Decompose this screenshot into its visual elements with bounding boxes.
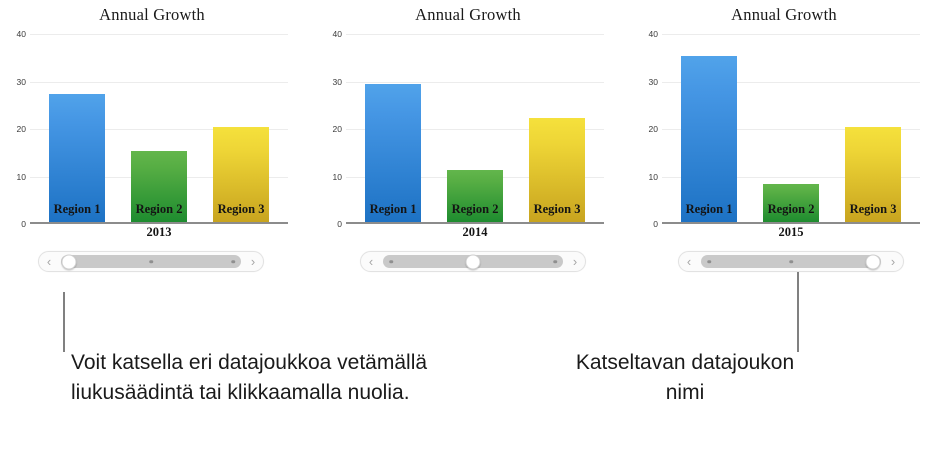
slider-track[interactable] bbox=[701, 255, 881, 268]
chart-title: Annual Growth bbox=[2, 0, 302, 25]
x-axis-tick-label: Region 2 bbox=[443, 202, 507, 217]
y-axis-tick-label: 20 bbox=[649, 124, 658, 134]
x-axis-tick-label: Region 3 bbox=[209, 202, 273, 217]
y-axis-tick-label: 10 bbox=[649, 172, 658, 182]
x-axis-baseline bbox=[30, 222, 288, 224]
chevron-right-icon[interactable]: › bbox=[883, 255, 903, 268]
plot-area: 010203040 bbox=[634, 34, 931, 224]
x-axis-tick-label: Region 3 bbox=[841, 202, 905, 217]
y-axis-tick-label: 10 bbox=[17, 172, 26, 182]
slider-tick-dot[interactable] bbox=[389, 260, 393, 264]
y-axis: 010203040 bbox=[634, 34, 662, 224]
x-axis-baseline bbox=[662, 222, 920, 224]
grid-area bbox=[346, 34, 604, 224]
dataset-slider[interactable]: ‹› bbox=[360, 251, 586, 272]
chevron-left-icon[interactable]: ‹ bbox=[679, 255, 699, 268]
dataset-name-label: 2014 bbox=[346, 225, 604, 240]
x-axis-tick-label: Region 1 bbox=[677, 202, 741, 217]
chevron-right-icon[interactable]: › bbox=[565, 255, 585, 268]
chevron-right-icon[interactable]: › bbox=[243, 255, 263, 268]
slider-track[interactable] bbox=[61, 255, 241, 268]
y-axis-tick-label: 0 bbox=[653, 219, 658, 229]
chevron-left-icon[interactable]: ‹ bbox=[39, 255, 59, 268]
chevron-left-icon[interactable]: ‹ bbox=[361, 255, 381, 268]
slider-track[interactable] bbox=[383, 255, 563, 268]
y-axis-tick-label: 30 bbox=[649, 77, 658, 87]
dataset-name-label: 2013 bbox=[30, 225, 288, 240]
callout-text-left: Voit katsella eri datajoukkoa vetämällä … bbox=[71, 348, 471, 408]
bar-group bbox=[668, 34, 914, 222]
callout-leader-line-right bbox=[797, 272, 799, 352]
y-axis-tick-label: 40 bbox=[17, 29, 26, 39]
x-axis-labels: Region 1Region 2Region 3 bbox=[668, 202, 914, 217]
slider-thumb[interactable] bbox=[866, 254, 881, 269]
slider-tick-dot[interactable] bbox=[789, 260, 793, 264]
chart-panel: Annual Growth010203040Region 1Region 2Re… bbox=[2, 0, 302, 310]
x-axis-baseline bbox=[346, 222, 604, 224]
y-axis-tick-label: 0 bbox=[337, 219, 342, 229]
slider-tick-dot[interactable] bbox=[231, 260, 235, 264]
plot-area: 010203040 bbox=[318, 34, 618, 224]
dataset-slider[interactable]: ‹› bbox=[678, 251, 904, 272]
chart-title: Annual Growth bbox=[634, 0, 931, 25]
x-axis-tick-label: Region 2 bbox=[127, 202, 191, 217]
y-axis-tick-label: 0 bbox=[21, 219, 26, 229]
slider-thumb[interactable] bbox=[466, 254, 481, 269]
y-axis-tick-label: 20 bbox=[333, 124, 342, 134]
slider-tick-dot[interactable] bbox=[707, 260, 711, 264]
bar-group bbox=[352, 34, 598, 222]
x-axis-tick-label: Region 1 bbox=[361, 202, 425, 217]
x-axis-tick-label: Region 1 bbox=[45, 202, 109, 217]
x-axis-tick-label: Region 3 bbox=[525, 202, 589, 217]
charts-row: Annual Growth010203040Region 1Region 2Re… bbox=[0, 0, 931, 310]
y-axis-tick-label: 20 bbox=[17, 124, 26, 134]
dataset-slider[interactable]: ‹› bbox=[38, 251, 264, 272]
slider-tick-dot[interactable] bbox=[553, 260, 557, 264]
y-axis-tick-label: 10 bbox=[333, 172, 342, 182]
grid-area bbox=[662, 34, 920, 224]
x-axis-labels: Region 1Region 2Region 3 bbox=[352, 202, 598, 217]
callout-leader-line-left bbox=[63, 292, 65, 352]
plot-area: 010203040 bbox=[2, 34, 302, 224]
y-axis-tick-label: 30 bbox=[333, 77, 342, 87]
dataset-name-label: 2015 bbox=[662, 225, 920, 240]
x-axis-tick-label: Region 2 bbox=[759, 202, 823, 217]
y-axis-tick-label: 40 bbox=[333, 29, 342, 39]
y-axis-tick-label: 40 bbox=[649, 29, 658, 39]
slider-thumb[interactable] bbox=[62, 254, 77, 269]
y-axis-tick-label: 30 bbox=[17, 77, 26, 87]
y-axis: 010203040 bbox=[318, 34, 346, 224]
callout-text-right: Katseltavan datajoukon nimi bbox=[560, 348, 810, 408]
x-axis-labels: Region 1Region 2Region 3 bbox=[36, 202, 282, 217]
chart-panel: Annual Growth010203040Region 1Region 2Re… bbox=[318, 0, 618, 310]
y-axis: 010203040 bbox=[2, 34, 30, 224]
slider-tick-dot[interactable] bbox=[149, 260, 153, 264]
grid-area bbox=[30, 34, 288, 224]
chart-panel: Annual Growth010203040Region 1Region 2Re… bbox=[634, 0, 931, 310]
bar bbox=[681, 56, 737, 222]
chart-title: Annual Growth bbox=[318, 0, 618, 25]
bar-group bbox=[36, 34, 282, 222]
